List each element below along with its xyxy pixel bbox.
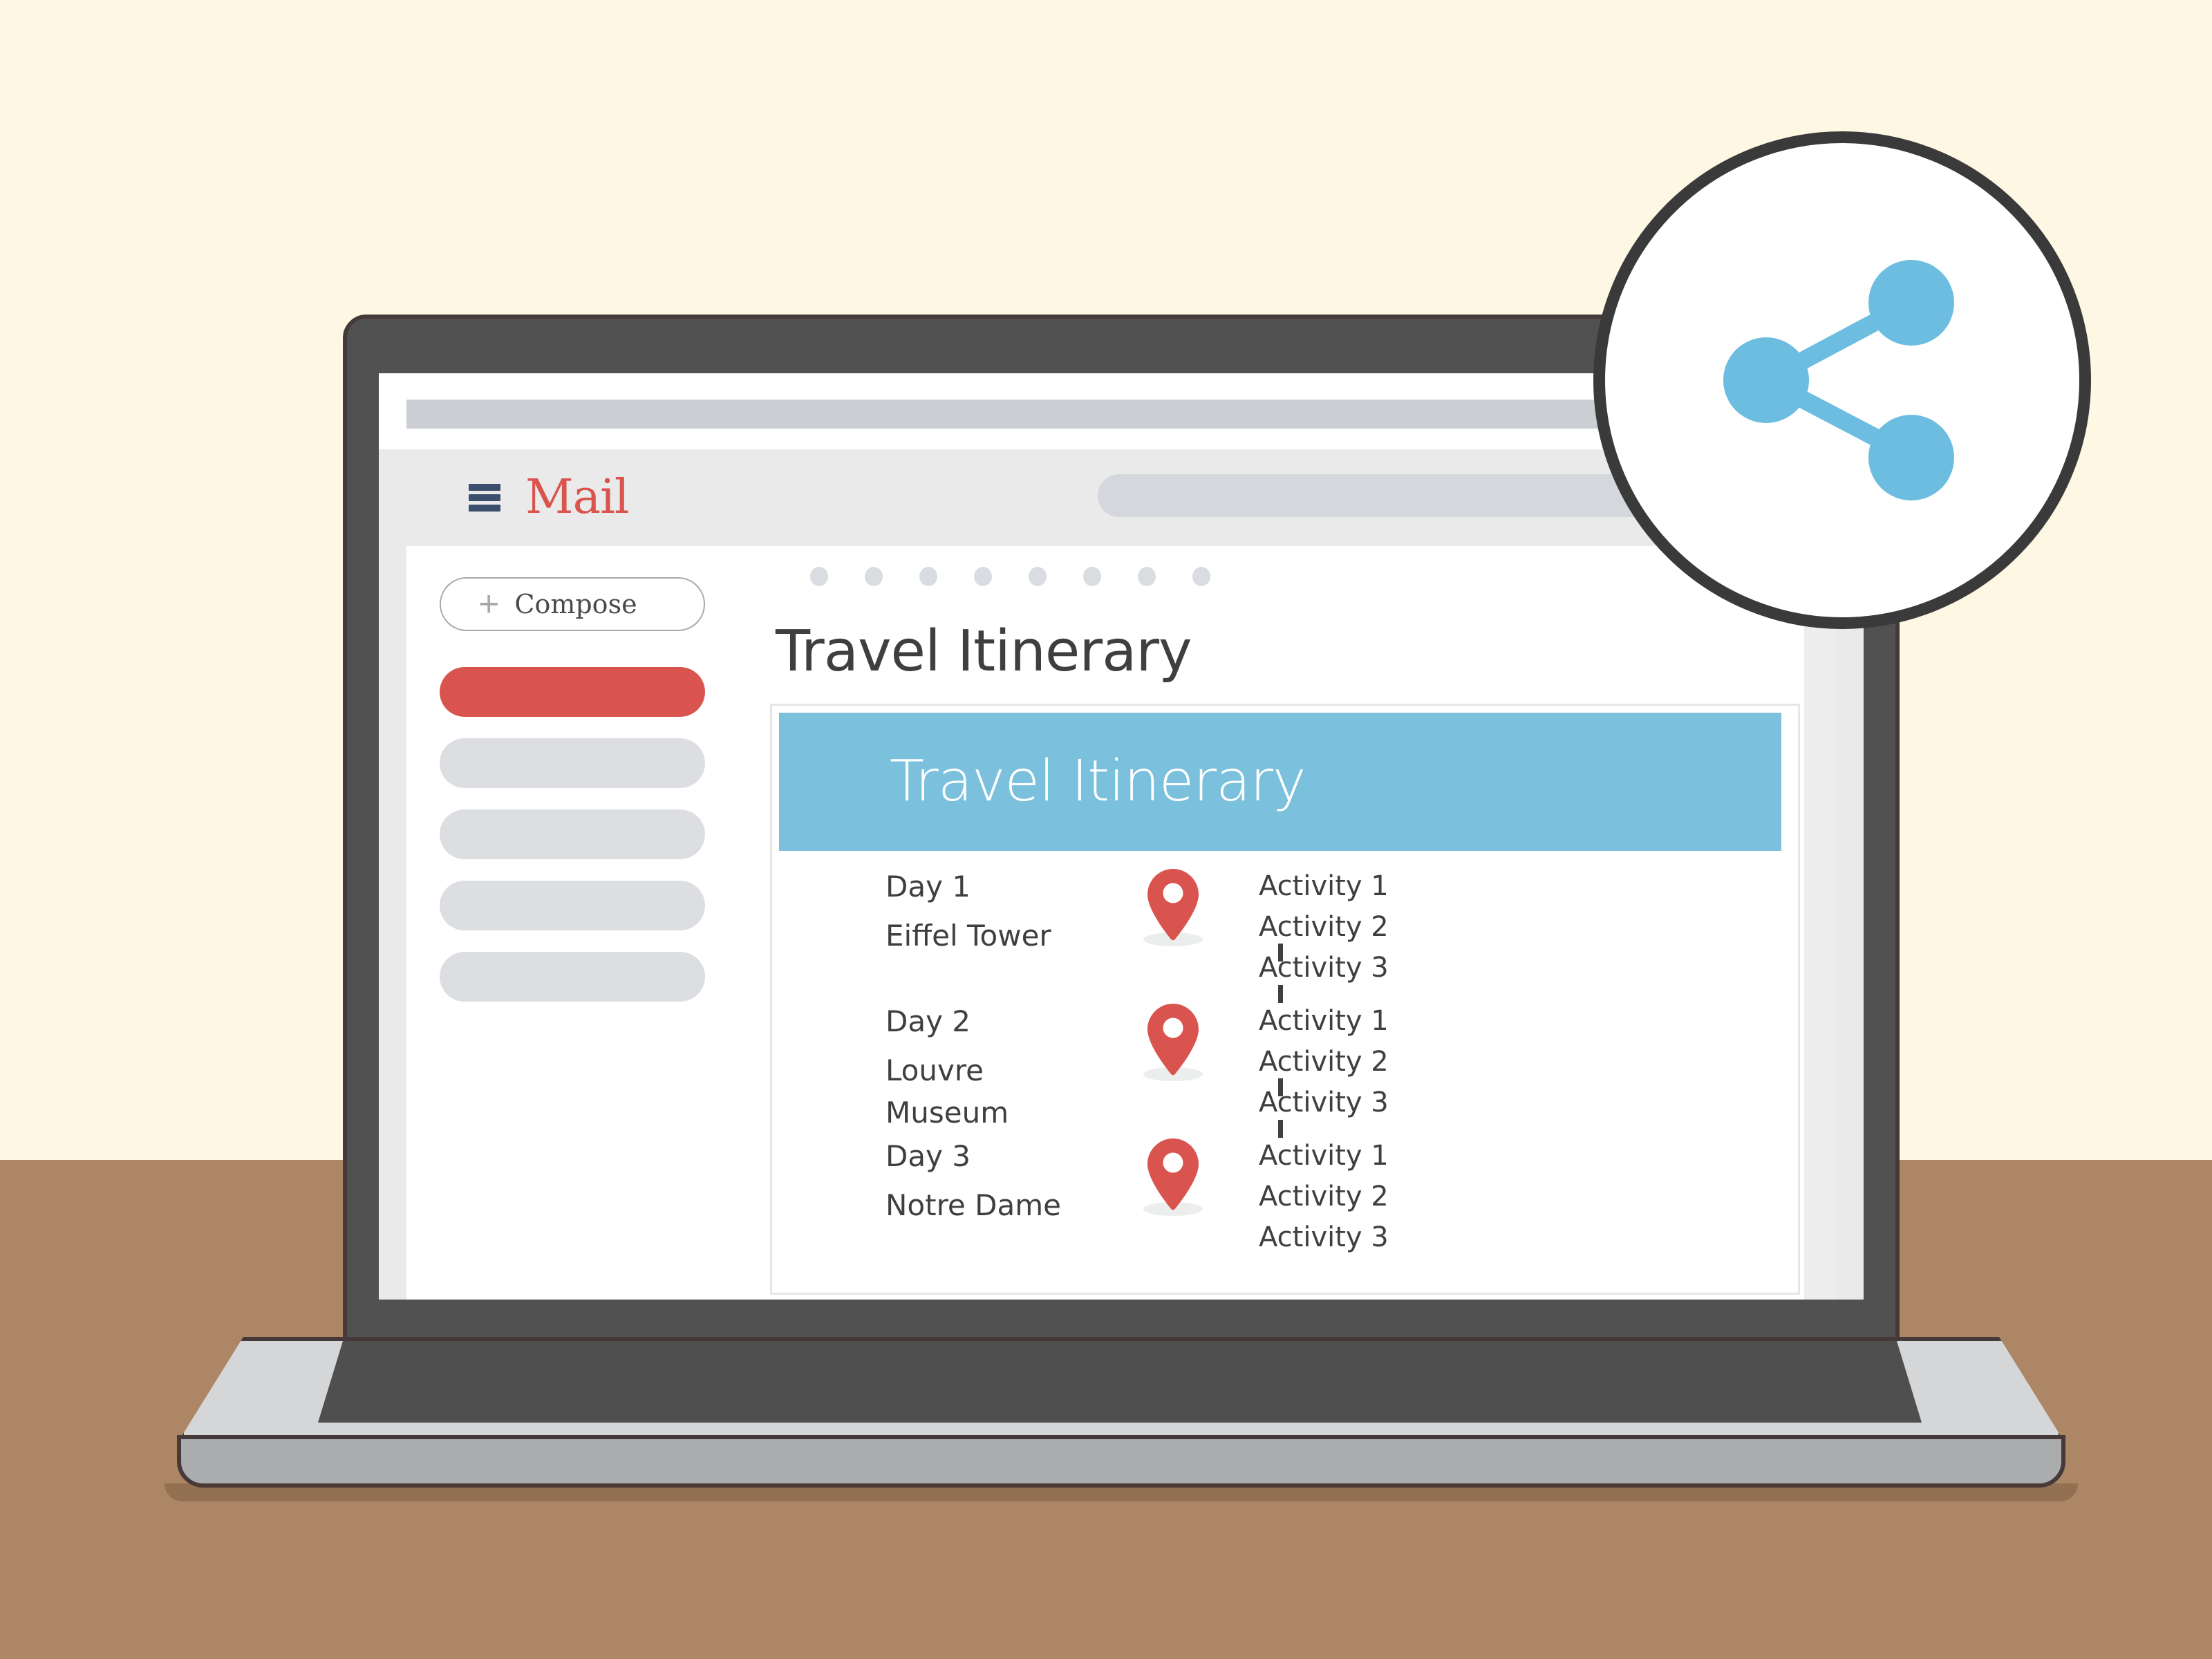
itinerary-pin-cell <box>1104 1001 1242 1139</box>
page-title: Travel Itinerary <box>776 624 1192 680</box>
activity-item: Activity 1 <box>1259 866 1389 907</box>
itinerary-place-label: Notre Dame <box>885 1185 1104 1227</box>
map-pin-icon <box>1147 1138 1199 1210</box>
sidebar-item-1[interactable] <box>440 667 705 717</box>
hamburger-icon[interactable] <box>469 484 500 512</box>
itinerary-day-label: Day 2 <box>885 1001 1104 1043</box>
itinerary-row[interactable]: Day 2 Louvre Museum <box>772 1001 1802 1139</box>
dot-indicator[interactable] <box>1029 567 1047 586</box>
itinerary-place-label: Eiffel Tower <box>885 915 1104 957</box>
dot-indicator[interactable] <box>1138 567 1156 586</box>
compose-button-label: Compose <box>514 589 637 619</box>
scrollbar[interactable] <box>1804 546 1836 1300</box>
itinerary-day-label: Day 1 <box>885 866 1104 908</box>
activity-item: Activity 1 <box>1259 1001 1389 1042</box>
keyboard-recess <box>318 1341 1922 1423</box>
message-dots <box>810 567 1210 586</box>
itinerary-row[interactable]: Day 3 Notre Dame <box>772 1136 1802 1274</box>
card-banner: Travel Itinerary <box>779 713 1781 851</box>
activity-item: Activity 3 <box>1259 1217 1389 1258</box>
dot-indicator[interactable] <box>810 567 828 586</box>
itinerary-pin-cell <box>1104 1136 1242 1274</box>
activity-item: Activity 2 <box>1259 1042 1389 1082</box>
dot-indicator[interactable] <box>919 567 937 586</box>
itinerary-day-label: Day 3 <box>885 1136 1104 1178</box>
activity-item: Activity 2 <box>1259 1177 1389 1217</box>
activity-item: Activity 3 <box>1259 948 1389 988</box>
plus-icon: + <box>478 586 499 622</box>
activity-item: Activity 3 <box>1259 1082 1389 1123</box>
dot-indicator[interactable] <box>1083 567 1101 586</box>
compose-button[interactable]: + Compose <box>440 577 705 631</box>
dot-indicator[interactable] <box>865 567 883 586</box>
activity-item: Activity 2 <box>1259 907 1389 948</box>
laptop-shadow <box>165 1483 2078 1501</box>
itinerary-place-label: Louvre Museum <box>885 1050 1104 1134</box>
itinerary-row[interactable]: Day 1 Eiffel Tower <box>772 866 1802 1004</box>
dot-indicator[interactable] <box>1192 567 1210 586</box>
illustration-stage: Mail + Compose <box>0 0 2212 1659</box>
itinerary-timeline: Day 1 Eiffel Tower <box>772 861 1802 1289</box>
map-pin-icon <box>1147 1004 1199 1076</box>
map-pin-icon <box>1147 869 1199 941</box>
itinerary-day-cell: Day 3 Notre Dame <box>772 1136 1104 1227</box>
content-pane: Travel Itinerary Travel Itinerary <box>752 546 1832 1300</box>
sidebar-item-4[interactable] <box>440 881 705 930</box>
itinerary-day-cell: Day 1 Eiffel Tower <box>772 866 1104 957</box>
mail-body: + Compose <box>379 546 1864 1300</box>
app-title: Mail <box>525 474 629 521</box>
sidebar: + Compose <box>406 546 752 1300</box>
itinerary-card: Travel Itinerary <box>770 704 1800 1295</box>
itinerary-pin-cell <box>1104 866 1242 1004</box>
sidebar-item-2[interactable] <box>440 738 705 788</box>
share-badge[interactable] <box>1593 131 2091 629</box>
card-banner-title: Travel Itinerary <box>890 753 1306 810</box>
sidebar-item-5[interactable] <box>440 952 705 1002</box>
share-icon <box>1697 249 1987 512</box>
itinerary-day-cell: Day 2 Louvre Museum <box>772 1001 1104 1134</box>
itinerary-activities: Activity 1 Activity 2 Activity 3 <box>1242 1001 1389 1124</box>
sidebar-item-3[interactable] <box>440 809 705 859</box>
itinerary-activities: Activity 1 Activity 2 Activity 3 <box>1242 1136 1389 1259</box>
itinerary-activities: Activity 1 Activity 2 Activity 3 <box>1242 866 1389 989</box>
laptop-base-front <box>177 1435 2065 1488</box>
dot-indicator[interactable] <box>974 567 992 586</box>
activity-item: Activity 1 <box>1259 1136 1389 1177</box>
